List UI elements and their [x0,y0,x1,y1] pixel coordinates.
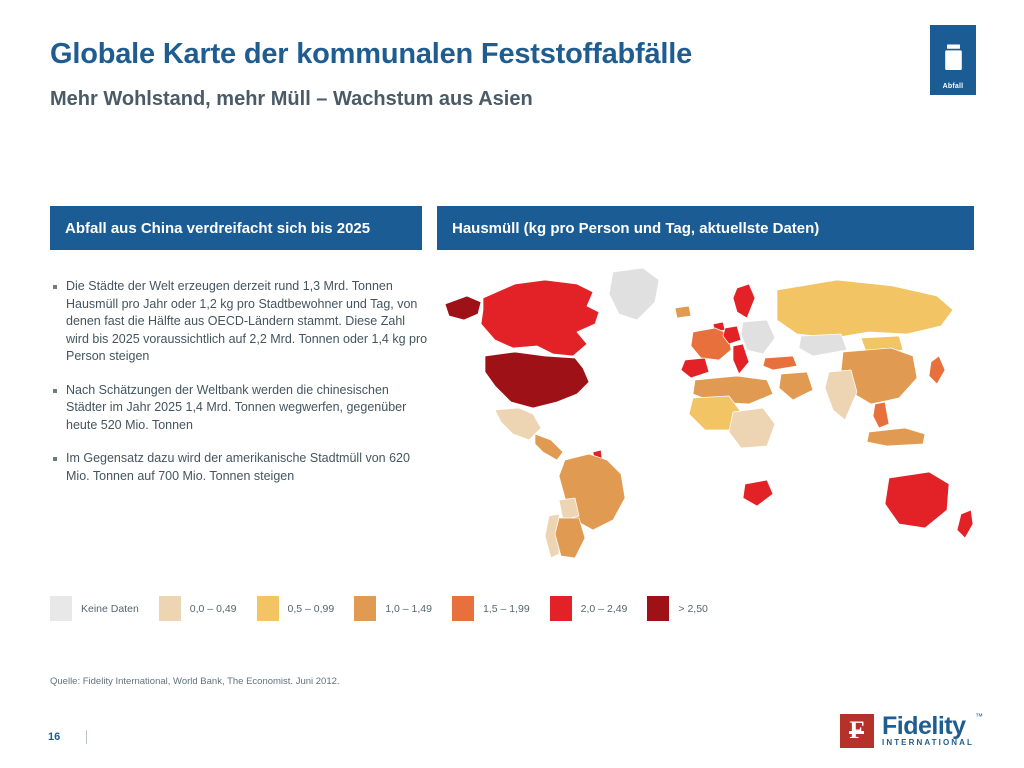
list-item-text: Die Städte der Welt erzeugen derzeit run… [66,278,428,366]
fidelity-logo-mark: F [840,714,874,748]
legend-label: 1,0 – 1,49 [385,603,432,615]
legend-item: 1,0 – 1,49 [354,596,446,621]
map-region [929,356,945,384]
legend-swatch [647,596,669,621]
list-item: Nach Schätzungen der Weltbank werden die… [50,382,428,435]
map-region [885,472,949,528]
map-region [445,296,481,320]
page-subtitle: Mehr Wohlstand, mehr Müll – Wachstum aus… [50,88,533,111]
map-region [867,428,925,446]
bullet-square-icon [53,457,57,461]
list-item: Die Städte der Welt erzeugen derzeit run… [50,278,428,366]
slide-canvas: Globale Karte der kommunalen Feststoffab… [0,0,1024,768]
legend-swatch [50,596,72,621]
map-legend: Keine Daten0,0 – 0,490,5 – 0,991,0 – 1,4… [50,596,750,621]
map-region [481,280,599,356]
legend-label: 0,5 – 0,99 [288,603,335,615]
legend-item: 2,0 – 2,49 [550,596,642,621]
map-region [743,480,773,506]
map-region [609,268,659,320]
map-region [957,510,973,538]
legend-swatch [452,596,474,621]
legend-swatch [550,596,572,621]
fidelity-logo-words: Fidelity ™ INTERNATIONAL [882,714,974,748]
trademark-icon: ™ [975,712,983,721]
legend-swatch [159,596,181,621]
page-number: 16 [48,731,60,743]
map-region [675,306,691,318]
source-note: Quelle: Fidelity International, World Ba… [50,676,340,687]
fidelity-logo: F Fidelity ™ INTERNATIONAL [840,714,974,748]
legend-item: 0,5 – 0,99 [257,596,349,621]
map-region [535,434,563,460]
map-region [741,320,775,354]
bullet-square-icon [53,285,57,289]
world-choropleth-map [437,262,977,572]
bullet-list: Die Städte der Welt erzeugen derzeit run… [50,278,428,501]
fidelity-logo-name: Fidelity [882,714,974,738]
fidelity-logo-subtitle: INTERNATIONAL [882,738,974,748]
map-region [777,280,953,338]
map-region [729,408,775,448]
legend-item: > 2,50 [647,596,722,621]
topic-badge: Abfall [930,25,976,95]
legend-swatch [354,596,376,621]
map-region [485,352,589,408]
map-region [799,334,847,356]
legend-label: 1,5 – 1,99 [483,603,530,615]
list-item-text: Nach Schätzungen der Weltbank werden die… [66,382,428,435]
trash-bin-icon [944,44,963,76]
legend-label: Keine Daten [81,603,139,615]
map-region [825,370,857,420]
map-region [495,408,541,440]
map-region [733,284,755,318]
bullet-square-icon [53,389,57,393]
left-panel-header: Abfall aus China verdreifacht sich bis 2… [50,206,422,250]
legend-label: > 2,50 [678,603,708,615]
legend-label: 2,0 – 2,49 [581,603,628,615]
map-region [559,498,579,520]
legend-item: 0,0 – 0,49 [159,596,251,621]
right-panel-header: Hausmüll (kg pro Person und Tag, aktuell… [437,206,974,250]
footer-divider [86,730,87,744]
list-item-text: Im Gegensatz dazu wird der amerikanische… [66,450,428,485]
legend-item: Keine Daten [50,596,153,621]
page-title: Globale Karte der kommunalen Feststoffab… [50,38,692,71]
legend-item: 1,5 – 1,99 [452,596,544,621]
legend-swatch [257,596,279,621]
map-region [873,402,889,428]
topic-badge-label: Abfall [943,83,964,90]
list-item: Im Gegensatz dazu wird der amerikanische… [50,450,428,485]
legend-label: 0,0 – 0,49 [190,603,237,615]
map-region [681,358,709,378]
map-region [779,372,813,400]
map-region [763,356,797,370]
map-region [555,518,585,558]
